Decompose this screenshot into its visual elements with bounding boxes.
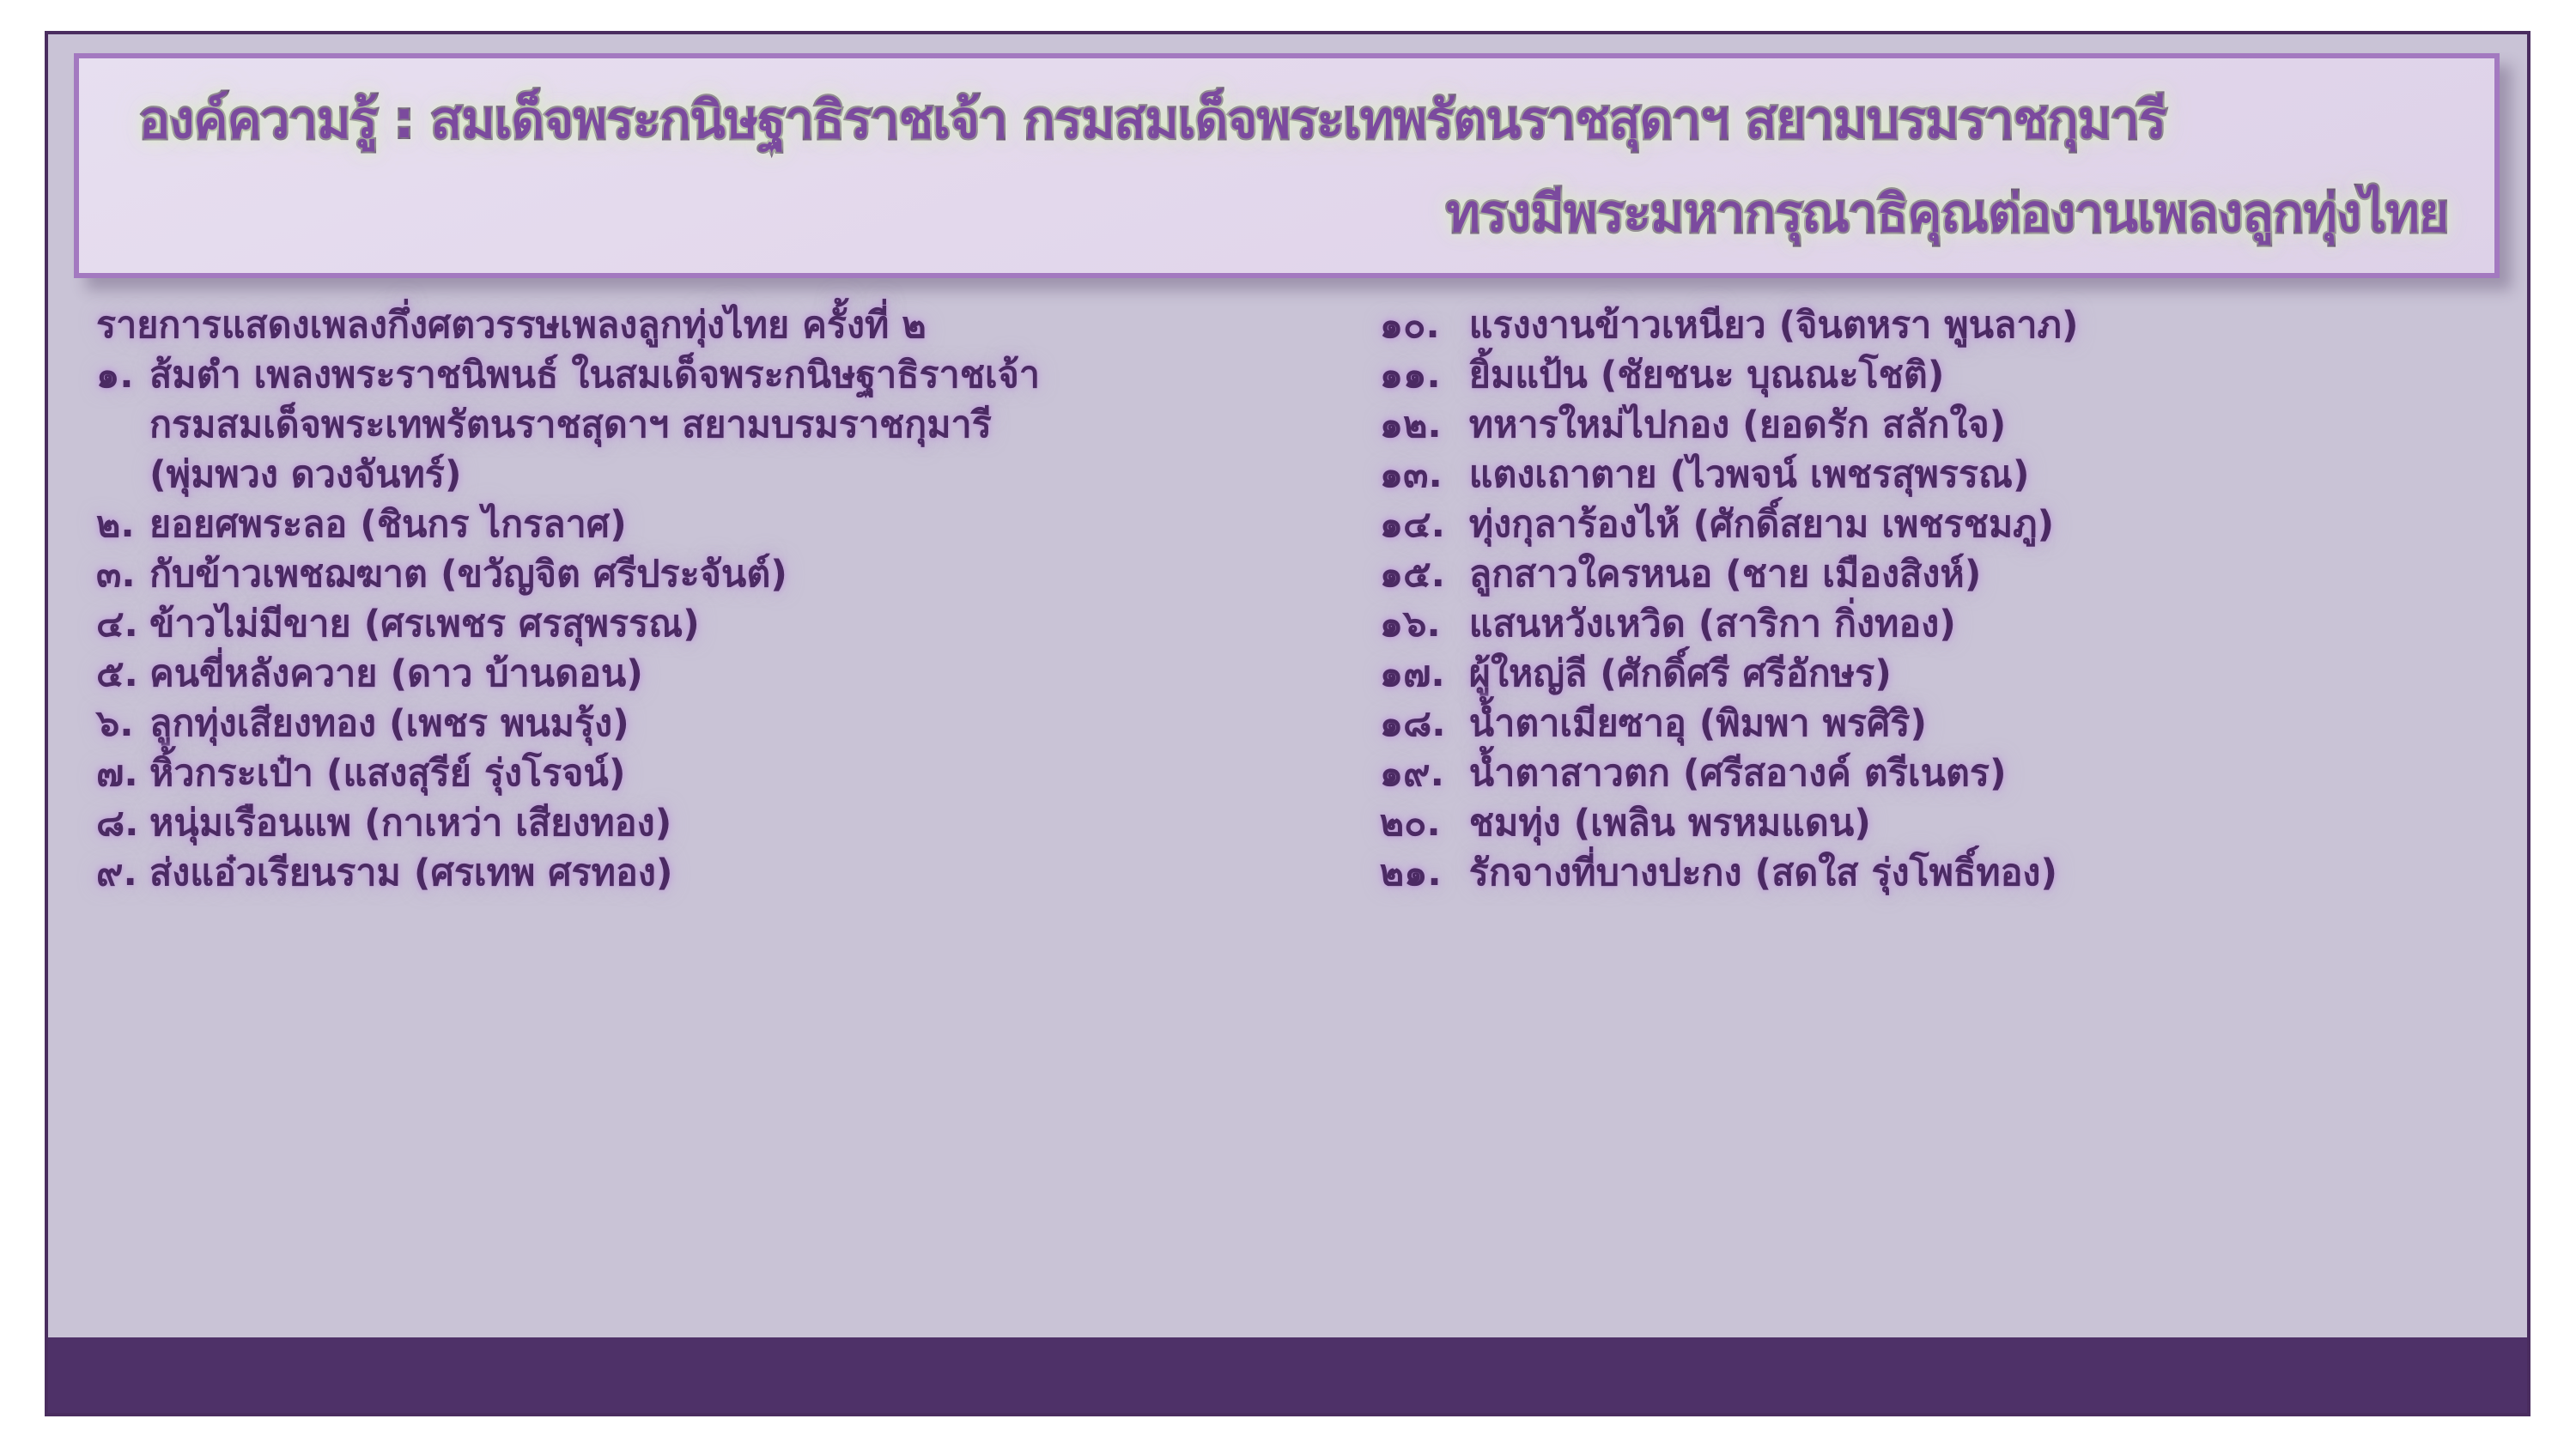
list-item-text: แสนหวังเหวิด (สาริกา กิ่งทอง) — [1469, 606, 1956, 643]
list-item-number: ๑๖. — [1380, 606, 1469, 643]
list-item-text: น้ำตาสาวตก (ศรีสอางค์ ตรีเนตร) — [1469, 755, 2007, 792]
list-item-text: แรงงานข้าวเหนียว (จินตหรา พูนลาภ) — [1469, 307, 2079, 344]
list-item-text: ทุ่งกุลาร้องไห้ (ศักดิ์สยาม เพชรชมภู) — [1469, 506, 2054, 543]
list-item-text: ผู้ใหญ่ลี (ศักดิ์ศรี ศรีอักษร) — [1469, 656, 1892, 693]
list-item: ๑๕. ลูกสาวใครหนอ (ชาย เมืองสิงห์) — [1380, 556, 2527, 606]
footer-bar — [48, 1337, 2527, 1413]
list-item-text: ส่งแอ๋วเรียนราม (ศรเทพ ศรทอง) — [149, 855, 672, 892]
title-line-1-reflection: องค์ความรู้ : สมเด็จพระกนิษฐาธิราชเจ้า ก… — [124, 147, 2455, 186]
list-item: ๘. หนุ่มเรือนแพ (กาเหว่า เสียงทอง) — [96, 805, 1371, 855]
title-line-2: ทรงมีพระมหากรุณาธิคุณต่องานเพลงลูกทุ่งไท… — [124, 188, 2455, 240]
list-item: ๒. ยอยศพระลอ (ชินกร ไกรลาศ) — [96, 506, 1371, 556]
list-item-continuation: (พุ่มพวง ดวงจันทร์) — [96, 457, 1371, 506]
list-item-continuation: กรมสมเด็จพระเทพรัตนราชสุดาฯ สยามบรมราชกุ… — [96, 407, 1371, 457]
slide-canvas: องค์ความรู้ : สมเด็จพระกนิษฐาธิราชเจ้า ก… — [45, 31, 2530, 1416]
list-item-number: ๑๐. — [1380, 307, 1469, 344]
list-item-number: ๑๙. — [1380, 755, 1469, 792]
list-item-text: กรมสมเด็จพระเทพรัตนราชสุดาฯ สยามบรมราชกุ… — [149, 407, 992, 444]
list-item-number: ๑๕. — [1380, 556, 1469, 593]
title-line-2-text: ทรงมีพระมหากรุณาธิคุณต่องานเพลงลูกทุ่งไท… — [1446, 184, 2448, 244]
list-item-text: ยอยศพระลอ (ชินกร ไกรลาศ) — [149, 506, 627, 543]
list-item-number: ๑๔. — [1380, 506, 1469, 543]
list-item-number: ๑๑. — [1380, 357, 1469, 394]
list-item: ๔. ข้าวไม่มีขาย (ศรเพชร ศรสุพรรณ) — [96, 606, 1371, 656]
list-item: ๒๑. รักจางที่บางปะกง (สดใส รุ่งโพธิ์ทอง) — [1380, 855, 2527, 905]
list-item: ๑๓. แตงเถาตาย (ไวพจน์ เพชรสุพรรณ) — [1380, 457, 2527, 506]
list-item: ๑๒. ทหารใหม่ไปกอง (ยอดรัก สลักใจ) — [1380, 407, 2527, 457]
left-column-heading: รายการแสดงเพลงกึ่งศตวรรษเพลงลูกทุ่งไทย ค… — [96, 307, 1371, 357]
list-item-number: ๑๗. — [1380, 656, 1469, 693]
list-item-text: รักจางที่บางปะกง (สดใส รุ่งโพธิ์ทอง) — [1469, 855, 2057, 892]
list-item-text: ลูกสาวใครหนอ (ชาย เมืองสิงห์) — [1469, 556, 1982, 593]
list-item-text: น้ำตาเมียซาอุ (พิมพา พรศิริ) — [1469, 706, 1927, 743]
left-column: รายการแสดงเพลงกึ่งศตวรรษเพลงลูกทุ่งไทย ค… — [48, 307, 1371, 1286]
title-line-1-text: องค์ความรู้ : สมเด็จพระกนิษฐาธิราชเจ้า ก… — [139, 90, 2166, 150]
list-item-text: ข้าวไม่มีขาย (ศรเพชร ศรสุพรรณ) — [149, 606, 700, 643]
list-item: ๑๖. แสนหวังเหวิด (สาริกา กิ่งทอง) — [1380, 606, 2527, 656]
list-item-text: ลูกทุ่งเสียงทอง (เพชร พนมรุ้ง) — [149, 706, 629, 743]
list-item-number: ๓. — [96, 556, 149, 593]
list-item: ๑๐. แรงงานข้าวเหนียว (จินตหรา พูนลาภ) — [1380, 307, 2527, 357]
list-item-number: ๑๓. — [1380, 457, 1469, 494]
list-item-number: ๕. — [96, 656, 149, 693]
list-item: ๙. ส่งแอ๋วเรียนราม (ศรเทพ ศรทอง) — [96, 855, 1371, 905]
list-item-number: ๘. — [96, 805, 149, 842]
list-item-text: กับข้าวเพชฌฆาต (ขวัญจิต ศรีประจันต์) — [149, 556, 787, 593]
list-item: ๑๑. ยิ้มแป้น (ชัยชนะ บุณณะโชติ) — [1380, 357, 2527, 407]
list-item-number: ๑๒. — [1380, 407, 1469, 444]
list-item: ๑๘. น้ำตาเมียซาอุ (พิมพา พรศิริ) — [1380, 706, 2527, 755]
list-item-number: ๒๑. — [1380, 855, 1469, 892]
list-item: ๓. กับข้าวเพชฌฆาต (ขวัญจิต ศรีประจันต์) — [96, 556, 1371, 606]
right-column: ๑๐. แรงงานข้าวเหนียว (จินตหรา พูนลาภ) ๑๑… — [1371, 307, 2527, 1286]
list-item: ๑๔. ทุ่งกุลาร้องไห้ (ศักดิ์สยาม เพชรชมภู… — [1380, 506, 2527, 556]
list-item: ๑. ส้มตำ เพลงพระราชนิพนธ์ ในสมเด็จพระกนิ… — [96, 357, 1371, 407]
list-item-number: ๒. — [96, 506, 149, 543]
list-item-number: ๙. — [96, 855, 149, 892]
title-line-2-reflection: ทรงมีพระมหากรุณาธิคุณต่องานเพลงลูกทุ่งไท… — [124, 240, 2455, 280]
list-item-text: ทหารใหม่ไปกอง (ยอดรัก สลักใจ) — [1469, 407, 2007, 444]
list-item: ๑๙. น้ำตาสาวตก (ศรีสอางค์ ตรีเนตร) — [1380, 755, 2527, 805]
list-item-text: แตงเถาตาย (ไวพจน์ เพชรสุพรรณ) — [1469, 457, 2030, 494]
list-item-number: ๔. — [96, 606, 149, 643]
list-item: ๒๐. ชมทุ่ง (เพลิน พรหมแดน) — [1380, 805, 2527, 855]
list-item: ๗. หิ้วกระเป๋า (แสงสุรีย์ รุ่งโรจน์) — [96, 755, 1371, 805]
list-item-number: ๑๘. — [1380, 706, 1469, 743]
list-item-number: ๗. — [96, 755, 149, 792]
list-item: ๕. คนขี่หลังควาย (ดาว บ้านดอน) — [96, 656, 1371, 706]
title-line-1: องค์ความรู้ : สมเด็จพระกนิษฐาธิราชเจ้า ก… — [124, 94, 2455, 147]
left-column-heading-text: รายการแสดงเพลงกึ่งศตวรรษเพลงลูกทุ่งไทย ค… — [96, 307, 927, 344]
list-item-text: ชมทุ่ง (เพลิน พรหมแดน) — [1469, 805, 1871, 842]
list-item: ๖. ลูกทุ่งเสียงทอง (เพชร พนมรุ้ง) — [96, 706, 1371, 755]
list-item-number: ๒๐. — [1380, 805, 1469, 842]
list-item-text: ยิ้มแป้น (ชัยชนะ บุณณะโชติ) — [1469, 357, 1945, 394]
title-box: องค์ความรู้ : สมเด็จพระกนิษฐาธิราชเจ้า ก… — [74, 53, 2500, 278]
list-item-number: ๖. — [96, 706, 149, 743]
list-item: ๑๗. ผู้ใหญ่ลี (ศักดิ์ศรี ศรีอักษร) — [1380, 656, 2527, 706]
list-item-number: ๑. — [96, 357, 149, 394]
list-item-text: หนุ่มเรือนแพ (กาเหว่า เสียงทอง) — [149, 805, 671, 842]
content-columns: รายการแสดงเพลงกึ่งศตวรรษเพลงลูกทุ่งไทย ค… — [48, 307, 2527, 1286]
list-item-text: ส้มตำ เพลงพระราชนิพนธ์ ในสมเด็จพระกนิษฐา… — [149, 357, 1040, 394]
list-item-text: หิ้วกระเป๋า (แสงสุรีย์ รุ่งโรจน์) — [149, 755, 625, 792]
list-item-text: คนขี่หลังควาย (ดาว บ้านดอน) — [149, 656, 643, 693]
list-item-text: (พุ่มพวง ดวงจันทร์) — [149, 457, 462, 494]
